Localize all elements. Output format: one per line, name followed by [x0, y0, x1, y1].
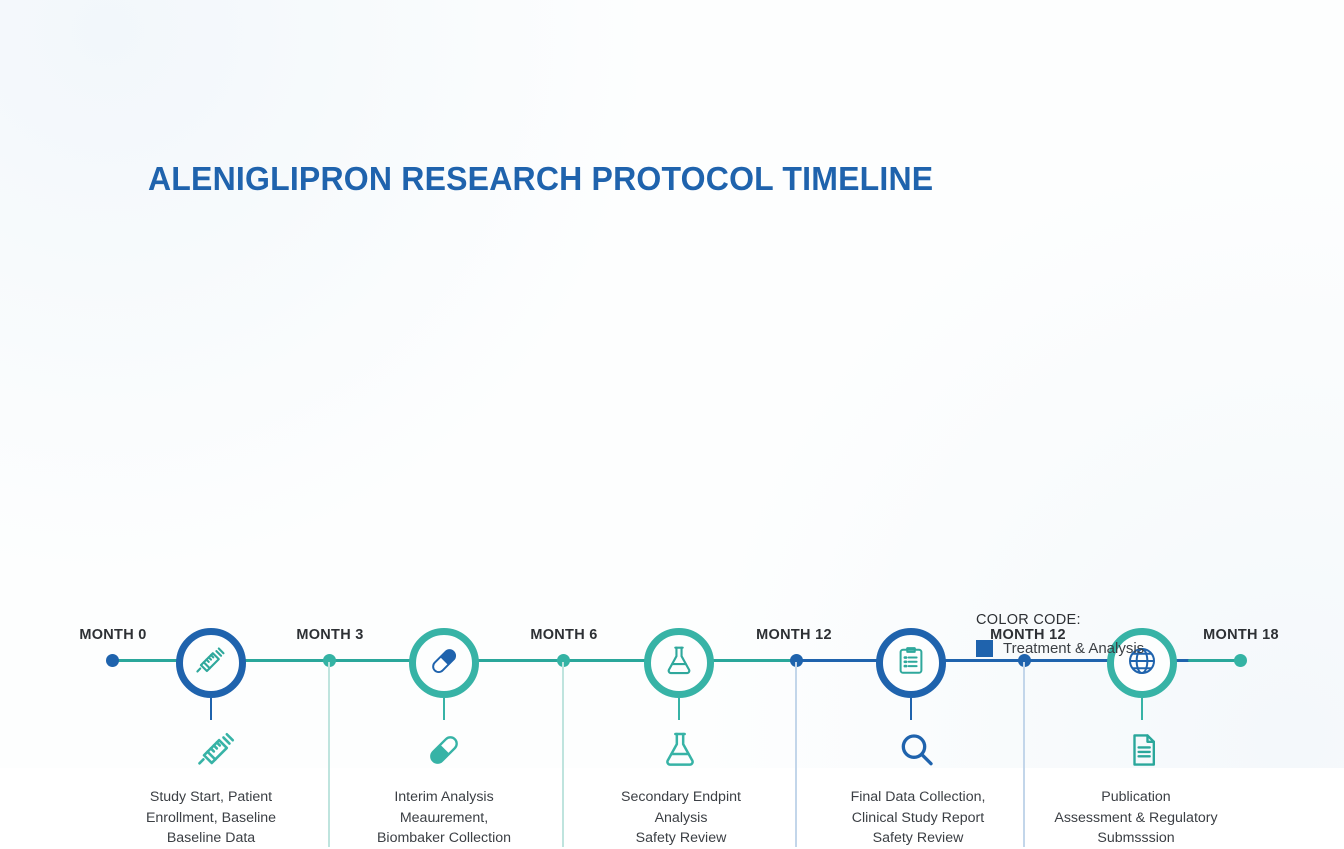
- pill-capsule-icon: [426, 643, 462, 684]
- description-line: Safety Review: [818, 828, 1018, 849]
- milestone-node-1[interactable]: [409, 628, 479, 698]
- sub-icon-magnifier: [889, 724, 945, 776]
- sub-icon-syringe: [189, 724, 245, 776]
- sub-icon-flask: [652, 724, 708, 776]
- infographic-canvas: ALENIGLIPRON RESEARCH PROTOCOL TIMELINE …: [0, 0, 1344, 768]
- milestone-description-0: Study Start, Patient Enrollment, Baselin…: [118, 787, 304, 849]
- flask-icon: [662, 644, 696, 683]
- legend-title: COLOR CODE:: [976, 612, 1144, 628]
- divider-line: [562, 662, 564, 847]
- node-stem: [910, 698, 912, 720]
- description-line: Enrollment, Baseline: [118, 808, 304, 829]
- node-stem: [210, 698, 212, 720]
- description-line: Final Data Collection,: [818, 787, 1018, 808]
- description-line: Study Start, Patient: [118, 787, 304, 808]
- node-stem: [678, 698, 680, 720]
- description-line: Biombaker Collection: [344, 828, 544, 849]
- axis-tick-dot: [106, 654, 119, 667]
- milestone-description-2: Secondary Endpint Analysis Safety Review: [588, 787, 774, 849]
- month-label-3: MONTH 12: [756, 627, 832, 643]
- timeline: MONTH 0 MONTH 3 MONTH 6 MONTH 12 MONTH 1…: [0, 300, 1344, 570]
- description-line: Safety Review: [588, 828, 774, 849]
- node-stem: [443, 698, 445, 720]
- description-line: Baseline Data: [118, 828, 304, 849]
- milestone-node-2[interactable]: [644, 628, 714, 698]
- milestone-description-4: Publication Assessment & Regulatory Subm…: [1022, 787, 1250, 849]
- milestone-node-3[interactable]: [876, 628, 946, 698]
- syringe-icon: [194, 644, 228, 683]
- description-line: Meauɹrement,: [344, 808, 544, 829]
- legend-color-swatch: [976, 640, 993, 657]
- divider-line: [795, 662, 797, 847]
- legend-item: Treatment & Analysis: [976, 640, 1144, 657]
- month-label-1: MONTH 3: [296, 627, 363, 643]
- milestone-node-0[interactable]: [176, 628, 246, 698]
- month-label-0: MONTH 0: [79, 627, 146, 643]
- description-line: Publication: [1022, 787, 1250, 808]
- description-line: Interim Analysis: [344, 787, 544, 808]
- node-stem: [1141, 698, 1143, 720]
- legend-item-label: Treatment & Analysis: [1003, 640, 1144, 657]
- month-label-2: MONTH 6: [530, 627, 597, 643]
- page-title: ALENIGLIPRON RESEARCH PROTOCOL TIMELINE: [148, 160, 933, 198]
- month-label-5: MONTH 18: [1203, 627, 1279, 643]
- milestone-description-1: Interim Analysis Meauɹrement, Biombaker …: [344, 787, 544, 849]
- clipboard-icon: [895, 645, 927, 682]
- sub-icon-pill-capsule: [416, 724, 472, 776]
- axis-tick-dot: [1234, 654, 1247, 667]
- description-line: Analysis: [588, 808, 774, 829]
- sub-icon-document: [1116, 724, 1172, 776]
- description-line: Assessment & Regulatory: [1022, 808, 1250, 829]
- legend: COLOR CODE: Treatment & Analysis: [976, 612, 1144, 657]
- milestone-description-3: Final Data Collection, Clinical Study Re…: [818, 787, 1018, 849]
- description-line: Clinical Study Report: [818, 808, 1018, 829]
- divider-line: [328, 662, 330, 847]
- description-line: Secondary Endpint: [588, 787, 774, 808]
- description-line: Submsssion: [1022, 828, 1250, 849]
